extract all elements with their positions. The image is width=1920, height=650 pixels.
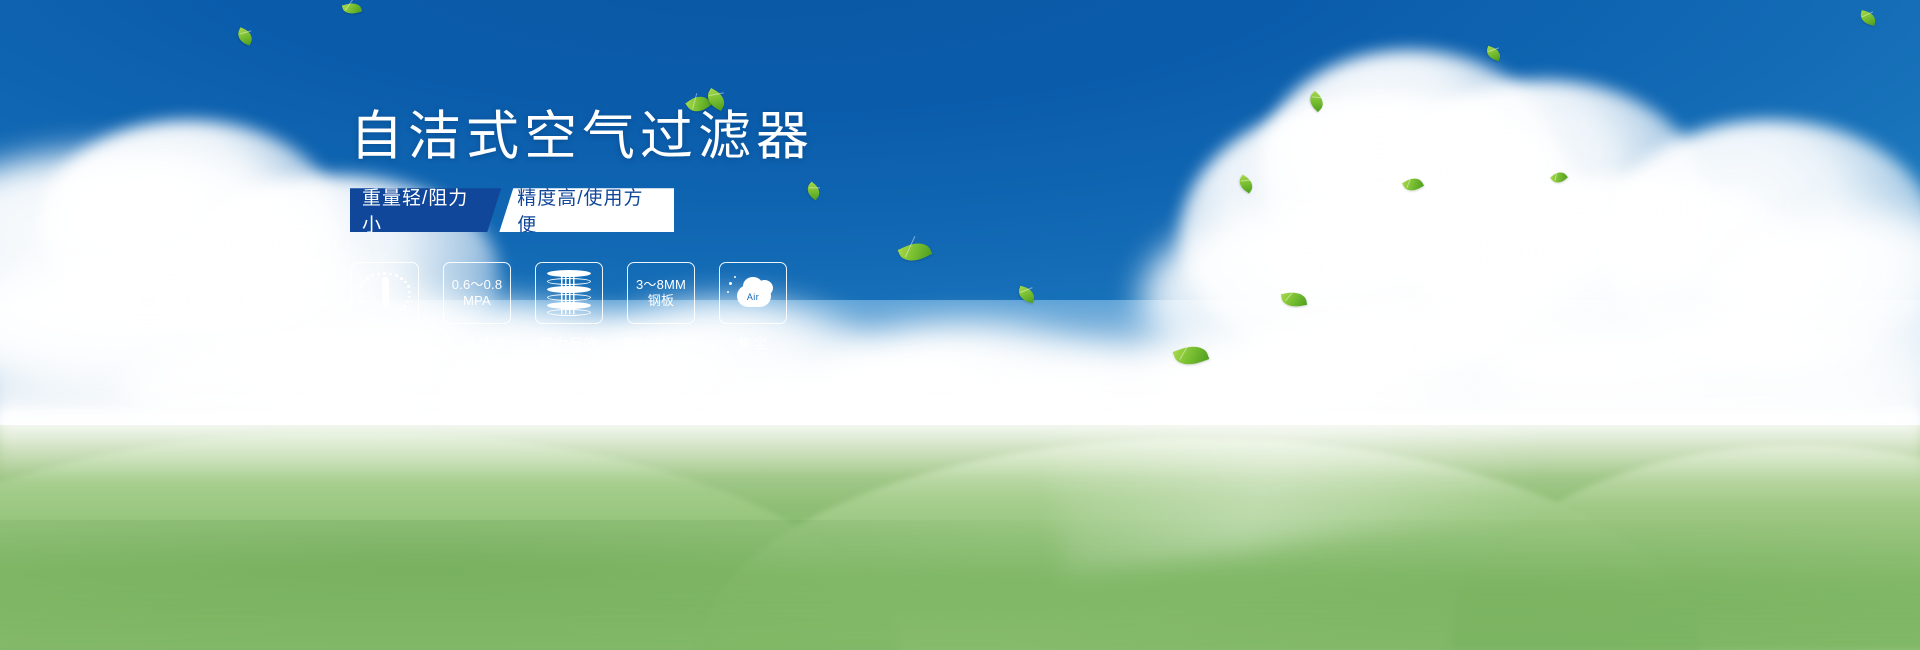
air-label: Air [727,292,779,302]
steel-value-line1: 3～8MM [636,277,686,293]
feature-icon-row: NO OFF 控制仪 0.6～0.8 MPA 二级过滤 [350,262,870,354]
dial-label-off: OFF [400,307,411,313]
feature-caption: 强力反吹 [539,334,599,354]
feature-caption: 集尘 [738,334,768,354]
dust-cloud-icon: Air [727,273,779,313]
grass-shadow [0,520,1920,650]
feature-icon-box: 3～8MM 钢板 [627,262,695,324]
feature-caption: 二级过滤 [447,334,507,354]
page-title: 自洁式空气过滤器 [350,108,870,166]
tagline-badge-primary: 重量轻/阻力小 [350,188,501,232]
feature-item-dust-collection[interactable]: Air 集尘 [718,262,788,354]
feature-item-steel-structure[interactable]: 3～8MM 钢板 钢结构强度 [626,262,696,354]
filter-coil-icon [547,270,591,316]
hero-content: 自洁式空气过滤器 重量轻/阻力小 精度高/使用方便 [350,108,870,354]
feature-caption: 控制仪 [363,334,408,354]
control-dial-icon: NO OFF [359,270,411,316]
feature-caption: 钢结构强度 [624,334,699,354]
grass-highlight [0,410,1920,480]
sky-background [0,0,1920,300]
tagline-badge-group: 重量轻/阻力小 精度高/使用方便 [350,188,674,232]
feature-icon-box: NO OFF [351,262,419,324]
tagline-badge-secondary: 精度高/使用方便 [499,188,674,232]
feature-icon-box [535,262,603,324]
feature-item-pressure[interactable]: 0.6～0.8 MPA 二级过滤 [442,262,512,354]
dial-knob [382,277,389,308]
feature-icon-box: 0.6～0.8 MPA [443,262,511,324]
steel-value-line2: 钢板 [648,293,674,309]
feature-item-backflush[interactable]: 强力反吹 [534,262,604,354]
product-hero-banner: 自洁式空气过滤器 重量轻/阻力小 精度高/使用方便 [0,0,1920,650]
pressure-value-line1: 0.6～0.8 [452,277,503,293]
feature-icon-box: Air [719,262,787,324]
dial-label-no: NO [358,294,366,300]
feature-item-control-panel[interactable]: NO OFF 控制仪 [350,262,420,354]
pressure-value-line2: MPA [463,293,491,309]
